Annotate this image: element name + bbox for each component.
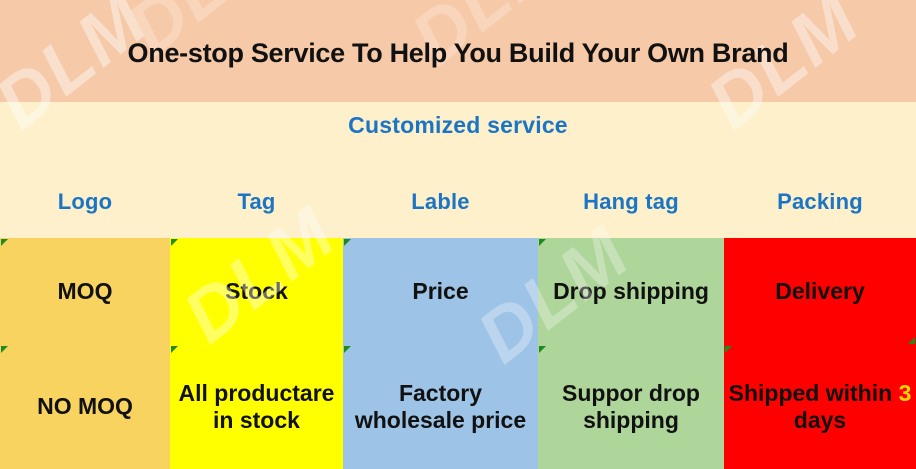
grid-detail-delivery-label: Shipped within 3 days bbox=[724, 380, 916, 434]
grid-detail-label: NO MOQ bbox=[33, 393, 137, 420]
feature-grid-detail-row: NO MOQ All productare in stock Factory w… bbox=[0, 345, 916, 469]
corner-marker-icon bbox=[171, 346, 178, 353]
service-label-hang-tag: Hang tag bbox=[538, 182, 724, 222]
grid-cell-heading-delivery: Delivery bbox=[724, 238, 916, 345]
grid-cell-detail-price: Factory wholesale price bbox=[343, 345, 538, 469]
corner-marker-icon bbox=[539, 239, 546, 246]
grid-heading-label: Price bbox=[412, 278, 468, 305]
grid-cell-heading-stock: Stock bbox=[170, 238, 343, 345]
service-label-logo: Logo bbox=[0, 182, 170, 222]
corner-marker-icon bbox=[1, 346, 8, 353]
corner-marker-icon bbox=[344, 346, 351, 353]
corner-marker-icon bbox=[171, 239, 178, 246]
section-title: Customized service bbox=[0, 112, 916, 139]
corner-marker-icon bbox=[1, 239, 8, 246]
delivery-days-highlight: 3 bbox=[899, 380, 912, 406]
delivery-suffix: days bbox=[794, 407, 846, 433]
grid-heading-label: MOQ bbox=[58, 278, 113, 305]
grid-heading-label: Stock bbox=[225, 278, 288, 305]
grid-detail-label: Factory wholesale price bbox=[343, 380, 538, 434]
grid-cell-detail-delivery: Shipped within 3 days bbox=[724, 345, 916, 469]
feature-grid: MOQ Stock Price Drop shipping Delivery bbox=[0, 238, 916, 469]
service-label-row: Logo Tag Lable Hang tag Packing bbox=[0, 182, 916, 222]
service-label-packing: Packing bbox=[724, 182, 916, 222]
grid-detail-label: Suppor drop shipping bbox=[538, 380, 724, 434]
corner-marker-icon bbox=[908, 337, 915, 344]
grid-cell-heading-drop-shipping: Drop shipping bbox=[538, 238, 724, 345]
corner-marker-icon bbox=[725, 346, 732, 353]
promo-banner: MOQ Stock Price Drop shipping Delivery bbox=[0, 0, 916, 469]
grid-detail-label: All productare in stock bbox=[170, 380, 343, 434]
grid-cell-detail-stock: All productare in stock bbox=[170, 345, 343, 469]
service-label-lable: Lable bbox=[343, 182, 538, 222]
page-title: One-stop Service To Help You Build Your … bbox=[0, 0, 916, 102]
delivery-prefix: Shipped within bbox=[729, 380, 899, 406]
grid-heading-label: Drop shipping bbox=[553, 278, 709, 305]
grid-cell-detail-drop-shipping: Suppor drop shipping bbox=[538, 345, 724, 469]
service-label-tag: Tag bbox=[170, 182, 343, 222]
grid-heading-label: Delivery bbox=[775, 278, 865, 305]
corner-marker-icon bbox=[344, 239, 351, 246]
grid-cell-heading-moq: MOQ bbox=[0, 238, 170, 345]
corner-marker-icon bbox=[539, 346, 546, 353]
feature-grid-heading-row: MOQ Stock Price Drop shipping Delivery bbox=[0, 238, 916, 345]
grid-cell-detail-moq: NO MOQ bbox=[0, 345, 170, 469]
grid-cell-heading-price: Price bbox=[343, 238, 538, 345]
